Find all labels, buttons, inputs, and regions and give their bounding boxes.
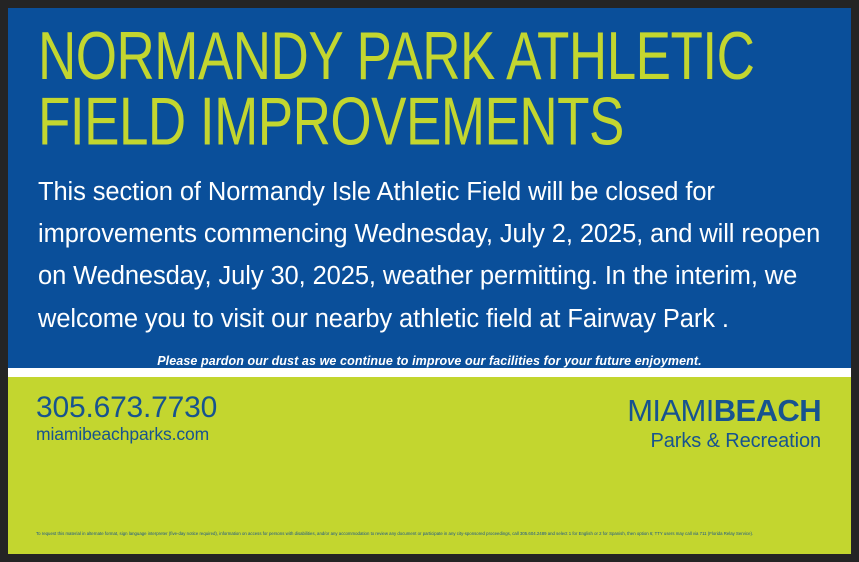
contact-phone[interactable]: 305.673.7730 bbox=[36, 393, 217, 423]
public-notice-sign: NORMANDY PARK ATHLETIC FIELD IMPROVEMENT… bbox=[8, 8, 851, 554]
ada-fineprint-notice: To request this material in alternate fo… bbox=[36, 531, 829, 536]
notice-blue-panel: NORMANDY PARK ATHLETIC FIELD IMPROVEMENT… bbox=[8, 8, 851, 368]
panel-divider bbox=[8, 368, 851, 377]
logo-wordmark-beach: BEACH bbox=[714, 393, 821, 428]
contact-block: 305.673.7730 miamibeachparks.com bbox=[36, 393, 217, 444]
miami-beach-logo: MIAMIBEACH Parks & Recreation bbox=[627, 395, 821, 451]
contact-website[interactable]: miamibeachparks.com bbox=[36, 426, 217, 444]
page-title: NORMANDY PARK ATHLETIC FIELD IMPROVEMENT… bbox=[38, 24, 821, 194]
notice-tagline: Please pardon our dust as we continue to… bbox=[38, 354, 821, 368]
logo-subtitle: Parks & Recreation bbox=[651, 431, 822, 451]
notice-footer-panel: 305.673.7730 miamibeachparks.com MIAMIBE… bbox=[8, 377, 851, 554]
logo-wordmark-miami: MIAMI bbox=[627, 393, 714, 428]
notice-body-text: This section of Normandy Isle Athletic F… bbox=[38, 171, 821, 340]
logo-wordmark: MIAMIBEACH bbox=[627, 395, 821, 426]
